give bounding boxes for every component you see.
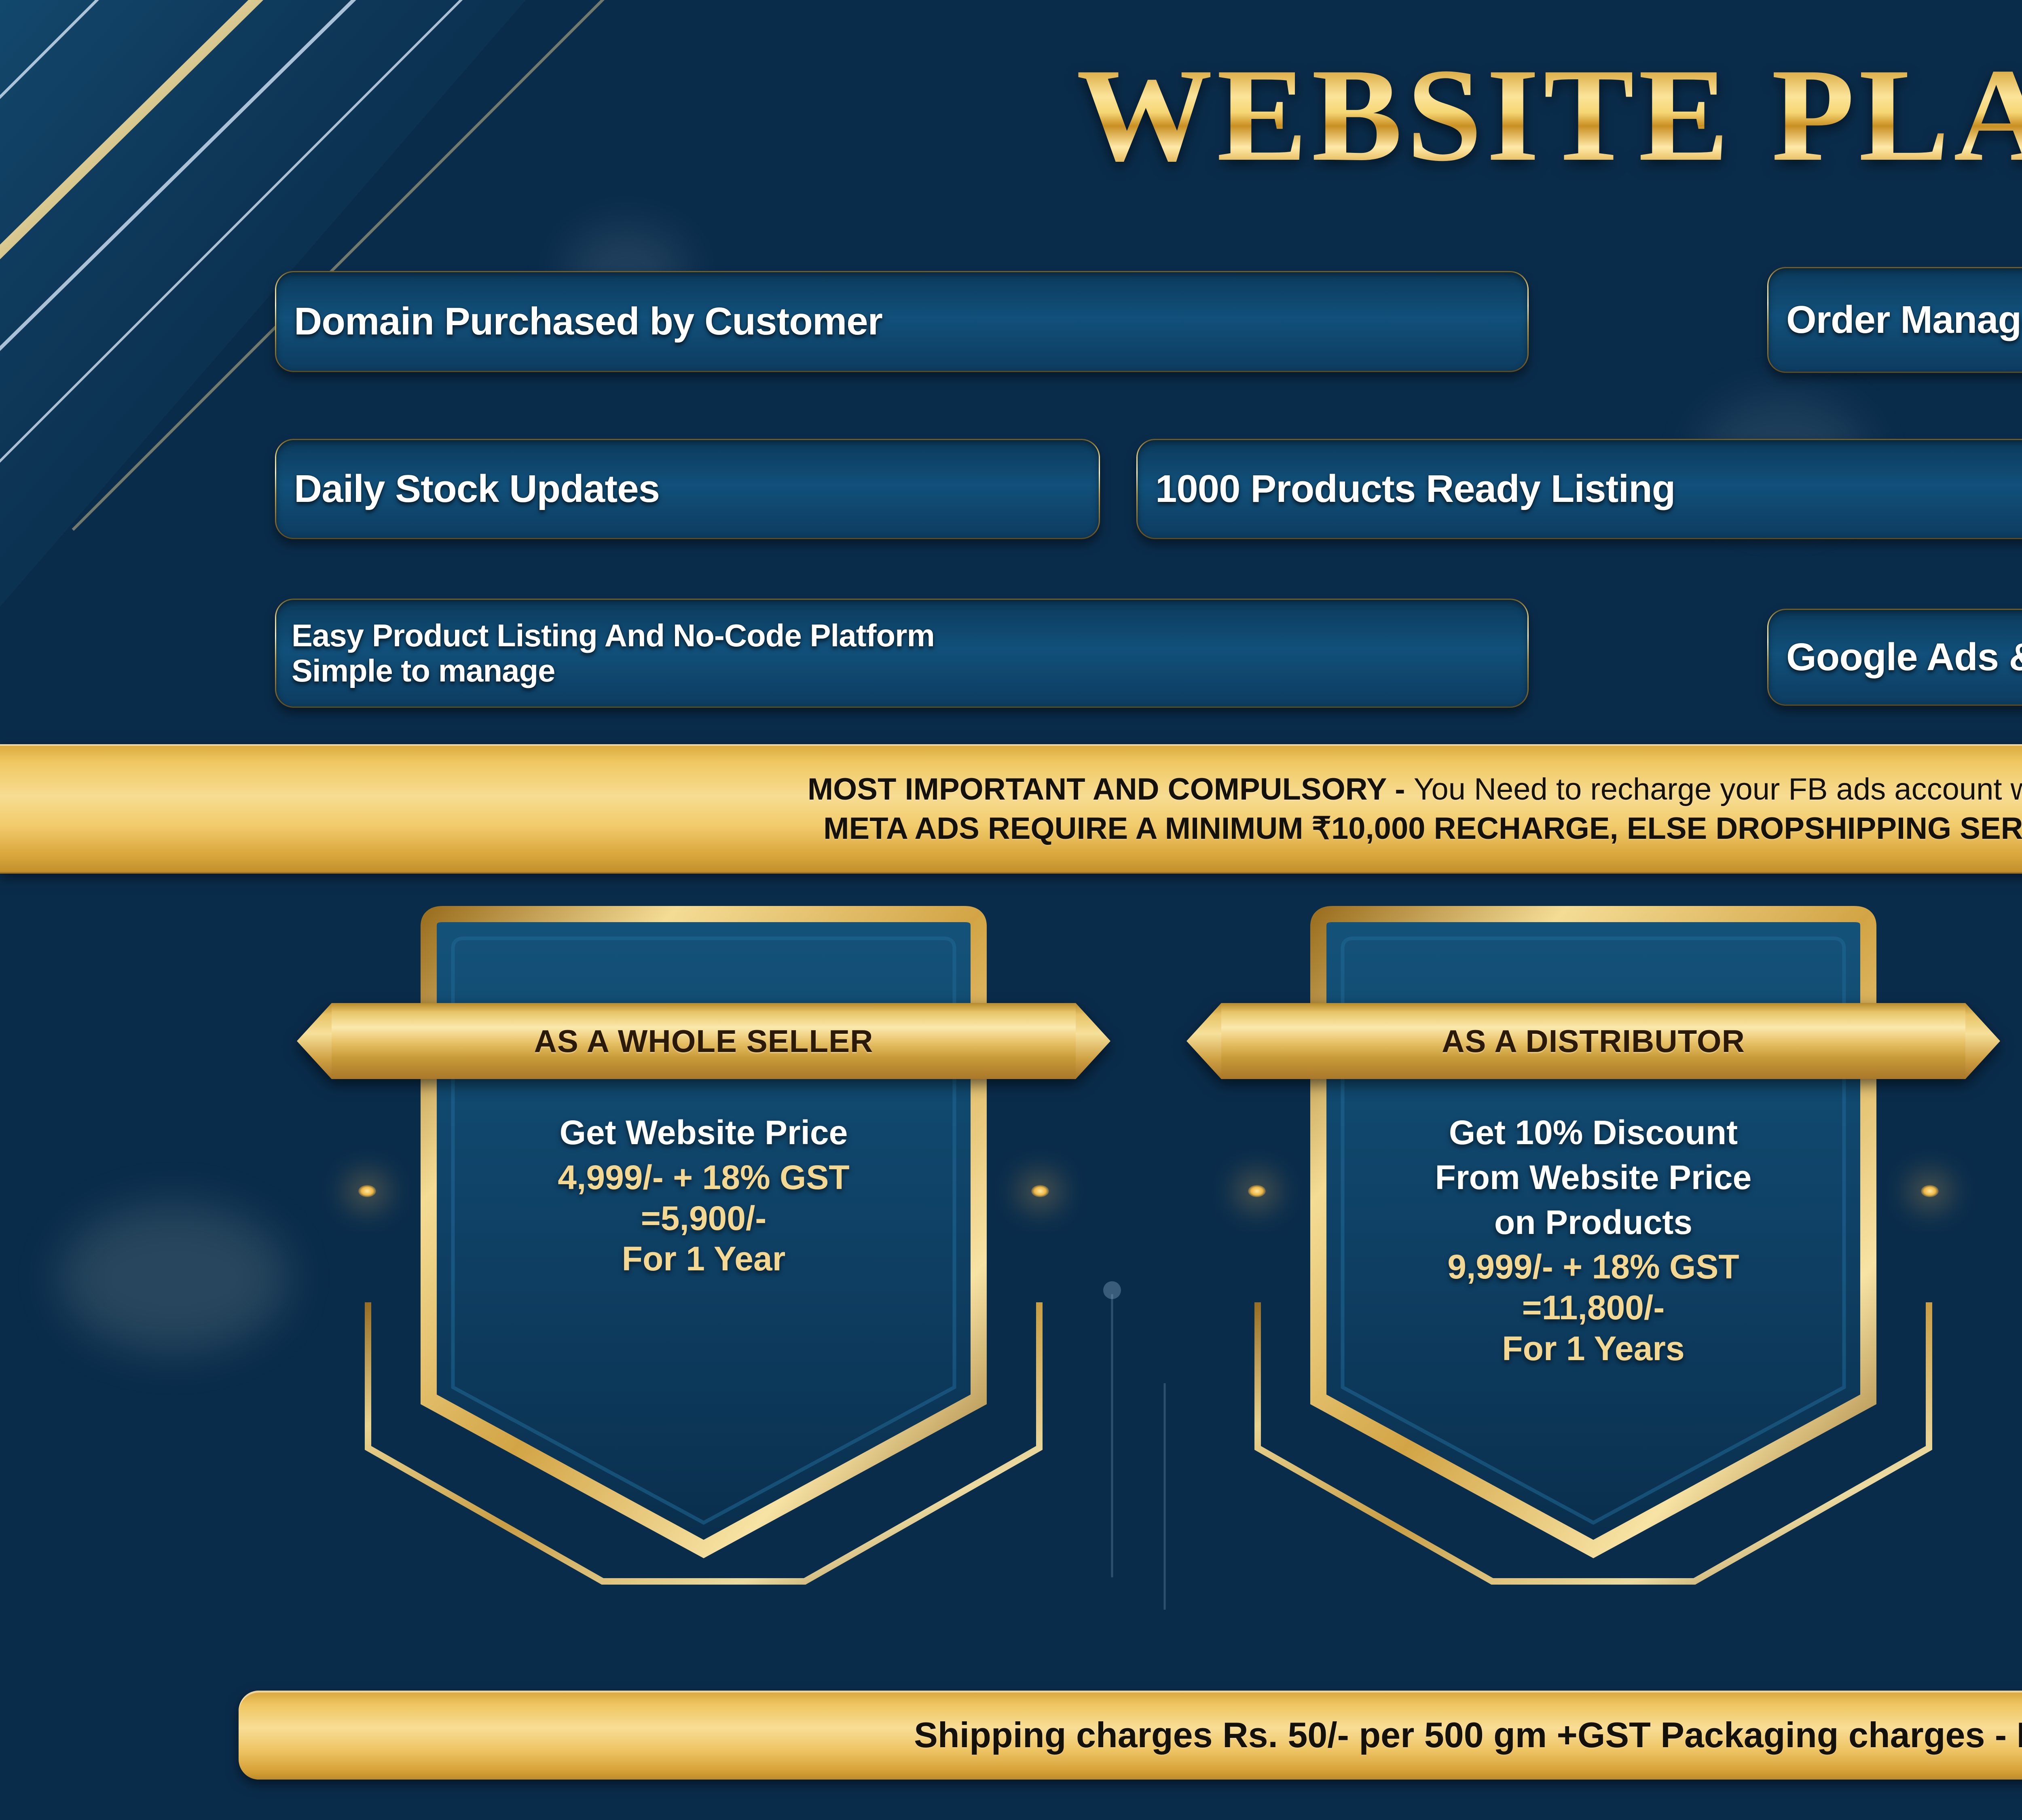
plan-headline: Get 10% Discount <box>1270 1112 1917 1153</box>
ribbon-point-left <box>1187 1003 1221 1079</box>
notice-line-1: MOST IMPORTANT AND COMPULSORY - You Need… <box>808 770 2022 809</box>
feature-pill-inner: Daily Stock Updates <box>276 440 1099 538</box>
plan-price-line: 9,999/- + 18% GST <box>1270 1246 1917 1287</box>
feature-pill-google-meta[interactable]: Google Ads & Meta Pixel Integration <box>1767 609 2022 706</box>
plan-price-line: 4,999/- + 18% GST <box>380 1157 1027 1198</box>
plan-price-line: =5,900/- <box>380 1198 1027 1239</box>
plan-card-whole-seller[interactable]: AS A WHOLE SELLER Get Website Price 4,99… <box>319 910 1088 1598</box>
feature-pill-inner: Order Management Panel <box>1768 268 2022 372</box>
feature-pill-daily-stock[interactable]: Daily Stock Updates <box>275 439 1100 539</box>
plan-ribbon-whole-seller: AS A WHOLE SELLER <box>332 1003 1076 1079</box>
notice-line-2: META ADS REQUIRE A MINIMUM ₹10,000 RECHA… <box>823 809 2022 848</box>
poster-canvas: WEBSITE PLAN Domain Purchased by Custome… <box>0 0 2022 1820</box>
plan-headline: Get Website Price <box>380 1112 1027 1153</box>
plan-body-distributor: Get 10% Discount From Website Price on P… <box>1270 1112 1917 1369</box>
page-title: WEBSITE PLAN <box>1077 49 2022 182</box>
trace-glow-dot <box>1921 1185 1939 1197</box>
plan-ribbon-distributor: AS A DISTRIBUTOR <box>1221 1003 1965 1079</box>
poster-title-wrap: WEBSITE PLAN <box>0 49 2022 182</box>
bokeh-blob <box>61 1205 287 1351</box>
feature-label: Easy Product Listing And No-Code Platfor… <box>292 618 935 689</box>
notice-line-1-bold: MOST IMPORTANT AND COMPULSORY - <box>808 772 1414 806</box>
plan-price-line: For 1 Year <box>380 1238 1027 1279</box>
trace-glow-dot <box>358 1185 376 1197</box>
ribbon-point-right <box>1076 1003 1110 1079</box>
feature-label: Daily Stock Updates <box>294 469 660 509</box>
shipping-charges-text: Shipping charges Rs. 50/- per 500 gm +GS… <box>914 1714 2022 1756</box>
feature-pill-products-listing[interactable]: 1000 Products Ready Listing <box>1136 439 2022 539</box>
ribbon-point-right <box>1965 1003 2000 1079</box>
feature-pill-easy-listing[interactable]: Easy Product Listing And No-Code Platfor… <box>275 599 1529 708</box>
plan-body-whole-seller: Get Website Price 4,999/- + 18% GST =5,9… <box>380 1112 1027 1279</box>
ribbon-point-left <box>297 1003 332 1079</box>
feature-label: Google Ads & Meta Pixel Integration <box>1786 637 2022 677</box>
notice-line-1-rest: You Need to recharge your FB ads account… <box>1414 772 2022 806</box>
plan-ribbon-label: AS A DISTRIBUTOR <box>1221 1003 1965 1079</box>
feature-pill-inner: 1000 Products Ready Listing <box>1138 440 2022 538</box>
feature-pill-order-management[interactable]: Order Management Panel No Monthly Hostin… <box>1767 267 2022 373</box>
trace-glow-dot <box>1248 1185 1266 1197</box>
compulsory-notice-banner: MOST IMPORTANT AND COMPULSORY - You Need… <box>0 744 2022 874</box>
feature-pill-inner: Google Ads & Meta Pixel Integration <box>1768 610 2022 705</box>
feature-pill-inner: Easy Product Listing And No-Code Platfor… <box>276 600 1527 707</box>
feature-label: Domain Purchased by Customer <box>294 302 882 341</box>
plan-ribbon-label: AS A WHOLE SELLER <box>332 1003 1076 1079</box>
shipping-charges-bar: Shipping charges Rs. 50/- per 500 gm +GS… <box>239 1691 2022 1780</box>
trace-glow-dot <box>1031 1185 1049 1197</box>
plan-headline: From Website Price <box>1270 1157 1917 1198</box>
plan-price-line: =11,800/- <box>1270 1287 1917 1328</box>
plan-headline: on Products <box>1270 1202 1917 1243</box>
plan-card-distributor[interactable]: AS A DISTRIBUTOR Get 10% Discount From W… <box>1209 910 1978 1598</box>
feature-label: Order Management Panel <box>1786 300 2022 340</box>
feature-label: 1000 Products Ready Listing <box>1155 469 1675 509</box>
feature-pill-inner: Domain Purchased by Customer <box>276 272 1527 371</box>
plan-price-line: For 1 Years <box>1270 1328 1917 1369</box>
feature-pill-domain-purchased[interactable]: Domain Purchased by Customer <box>275 271 1529 372</box>
